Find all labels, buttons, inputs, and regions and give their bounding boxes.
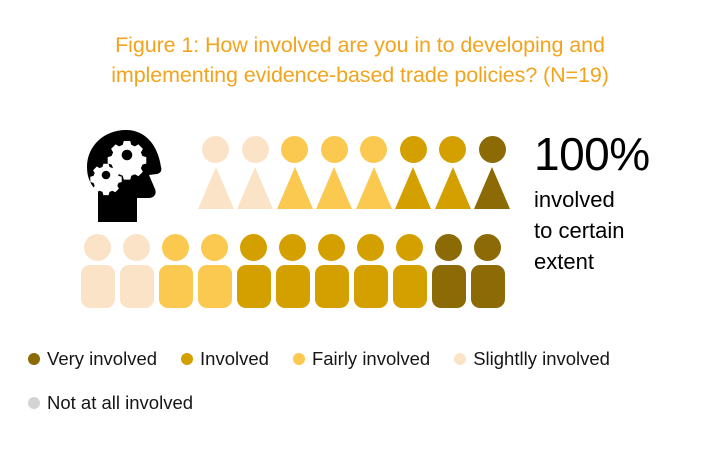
pictogram-figure-head [318, 234, 345, 261]
legend-item[interactable]: Involved [181, 349, 269, 369]
pictogram-figure-head [281, 136, 308, 163]
page-title-line-2: implementing evidence-based trade polici… [60, 60, 660, 90]
pictogram-figure [390, 234, 429, 308]
pictogram-figure [351, 234, 390, 308]
pictogram-figure-head [474, 234, 501, 261]
legend-item[interactable]: Fairly involved [293, 349, 430, 369]
big-statistic-caption-line-2: to certain [534, 215, 714, 246]
pictogram-figure-body [198, 167, 234, 209]
legend-item-label: Slightlly involved [473, 349, 610, 369]
pictogram-figure-head [479, 136, 506, 163]
pictogram-figure-body [315, 265, 349, 308]
pictogram-figure-head [279, 234, 306, 261]
pictogram-figure-body [277, 167, 313, 209]
pictogram-figure-body [316, 167, 352, 209]
pictogram-figure-body [120, 265, 154, 308]
pictogram-figure [273, 234, 312, 308]
big-statistic-caption-line-1: involved [534, 184, 714, 215]
big-statistic-number: 100% [534, 128, 714, 180]
pictogram-figure-body [471, 265, 505, 308]
pictogram-figure-head [201, 234, 228, 261]
pictogram-figure-head [360, 136, 387, 163]
pictogram-figure [156, 234, 195, 308]
legend-row: Very involvedInvolvedFairly involvedSlig… [28, 344, 700, 373]
pictogram-figure [429, 234, 468, 308]
pictogram-figure-body [237, 265, 271, 308]
pictogram-figure-head [84, 234, 111, 261]
pictogram-figure-head [240, 234, 267, 261]
pictogram-figure [236, 136, 276, 209]
legend-swatch-dot-icon [293, 353, 305, 365]
pictogram-figure [312, 234, 351, 308]
page-title-line-1: Figure 1: How involved are you in to dev… [60, 30, 660, 60]
pictogram-figure-head [435, 234, 462, 261]
legend-item-label: Involved [200, 349, 269, 369]
pictogram-figure-body [159, 265, 193, 308]
pictogram-figure-body [198, 265, 232, 308]
head-with-gears-icon [78, 128, 178, 224]
pictogram-figure-body [432, 265, 466, 308]
pictogram-figure [473, 136, 513, 209]
pictogram-figure-head [202, 136, 229, 163]
pictogram-figure-body [237, 167, 273, 209]
legend-swatch-dot-icon [454, 353, 466, 365]
legend-item[interactable]: Slightlly involved [454, 349, 610, 369]
pictogram-figure-head [439, 136, 466, 163]
page-title: Figure 1: How involved are you in to dev… [60, 30, 660, 90]
pictogram-figure [196, 136, 236, 209]
legend-swatch-dot-icon [181, 353, 193, 365]
big-statistic-caption: involved to certain extent [534, 184, 714, 277]
legend-item-label: Fairly involved [312, 349, 430, 369]
pictogram-figure [433, 136, 473, 209]
legend-item[interactable]: Very involved [28, 349, 157, 369]
legend-swatch-dot-icon [28, 397, 40, 409]
pictogram-figure-head [162, 234, 189, 261]
pictogram-row-2 [78, 234, 507, 308]
big-statistic: 100% involved to certain extent [534, 128, 714, 277]
pictogram-figure-body [354, 265, 388, 308]
pictogram-figure [354, 136, 394, 209]
legend-item-label: Not at all involved [47, 393, 193, 413]
pictogram-figure-body [393, 265, 427, 308]
pictogram-figure [117, 234, 156, 308]
legend-item-label: Very involved [47, 349, 157, 369]
pictogram-row-1 [196, 136, 512, 209]
pictogram-figure [275, 136, 315, 209]
pictogram-figure [234, 234, 273, 308]
pictogram-figure-head [357, 234, 384, 261]
pictogram-figure [195, 234, 234, 308]
legend-row: Not at all involved [28, 388, 700, 417]
pictogram-figure [394, 136, 434, 209]
pictogram-figure-head [321, 136, 348, 163]
pictogram-figure-head [400, 136, 427, 163]
pictogram-figure-head [396, 234, 423, 261]
pictogram-figure-body [356, 167, 392, 209]
pictogram-figure [315, 136, 355, 209]
big-statistic-caption-line-3: extent [534, 246, 714, 277]
pictogram-figure [468, 234, 507, 308]
pictogram-figure-body [395, 167, 431, 209]
legend-item[interactable]: Not at all involved [28, 393, 193, 413]
legend: Very involvedInvolvedFairly involvedSlig… [28, 344, 700, 417]
pictogram-figure-head [242, 136, 269, 163]
legend-swatch-dot-icon [28, 353, 40, 365]
pictogram-figure-body [435, 167, 471, 209]
pictogram-figure-body [474, 167, 510, 209]
pictogram-figure-body [276, 265, 310, 308]
pictogram-figure-body [81, 265, 115, 308]
pictogram-figure-head [123, 234, 150, 261]
pictogram-figure [78, 234, 117, 308]
